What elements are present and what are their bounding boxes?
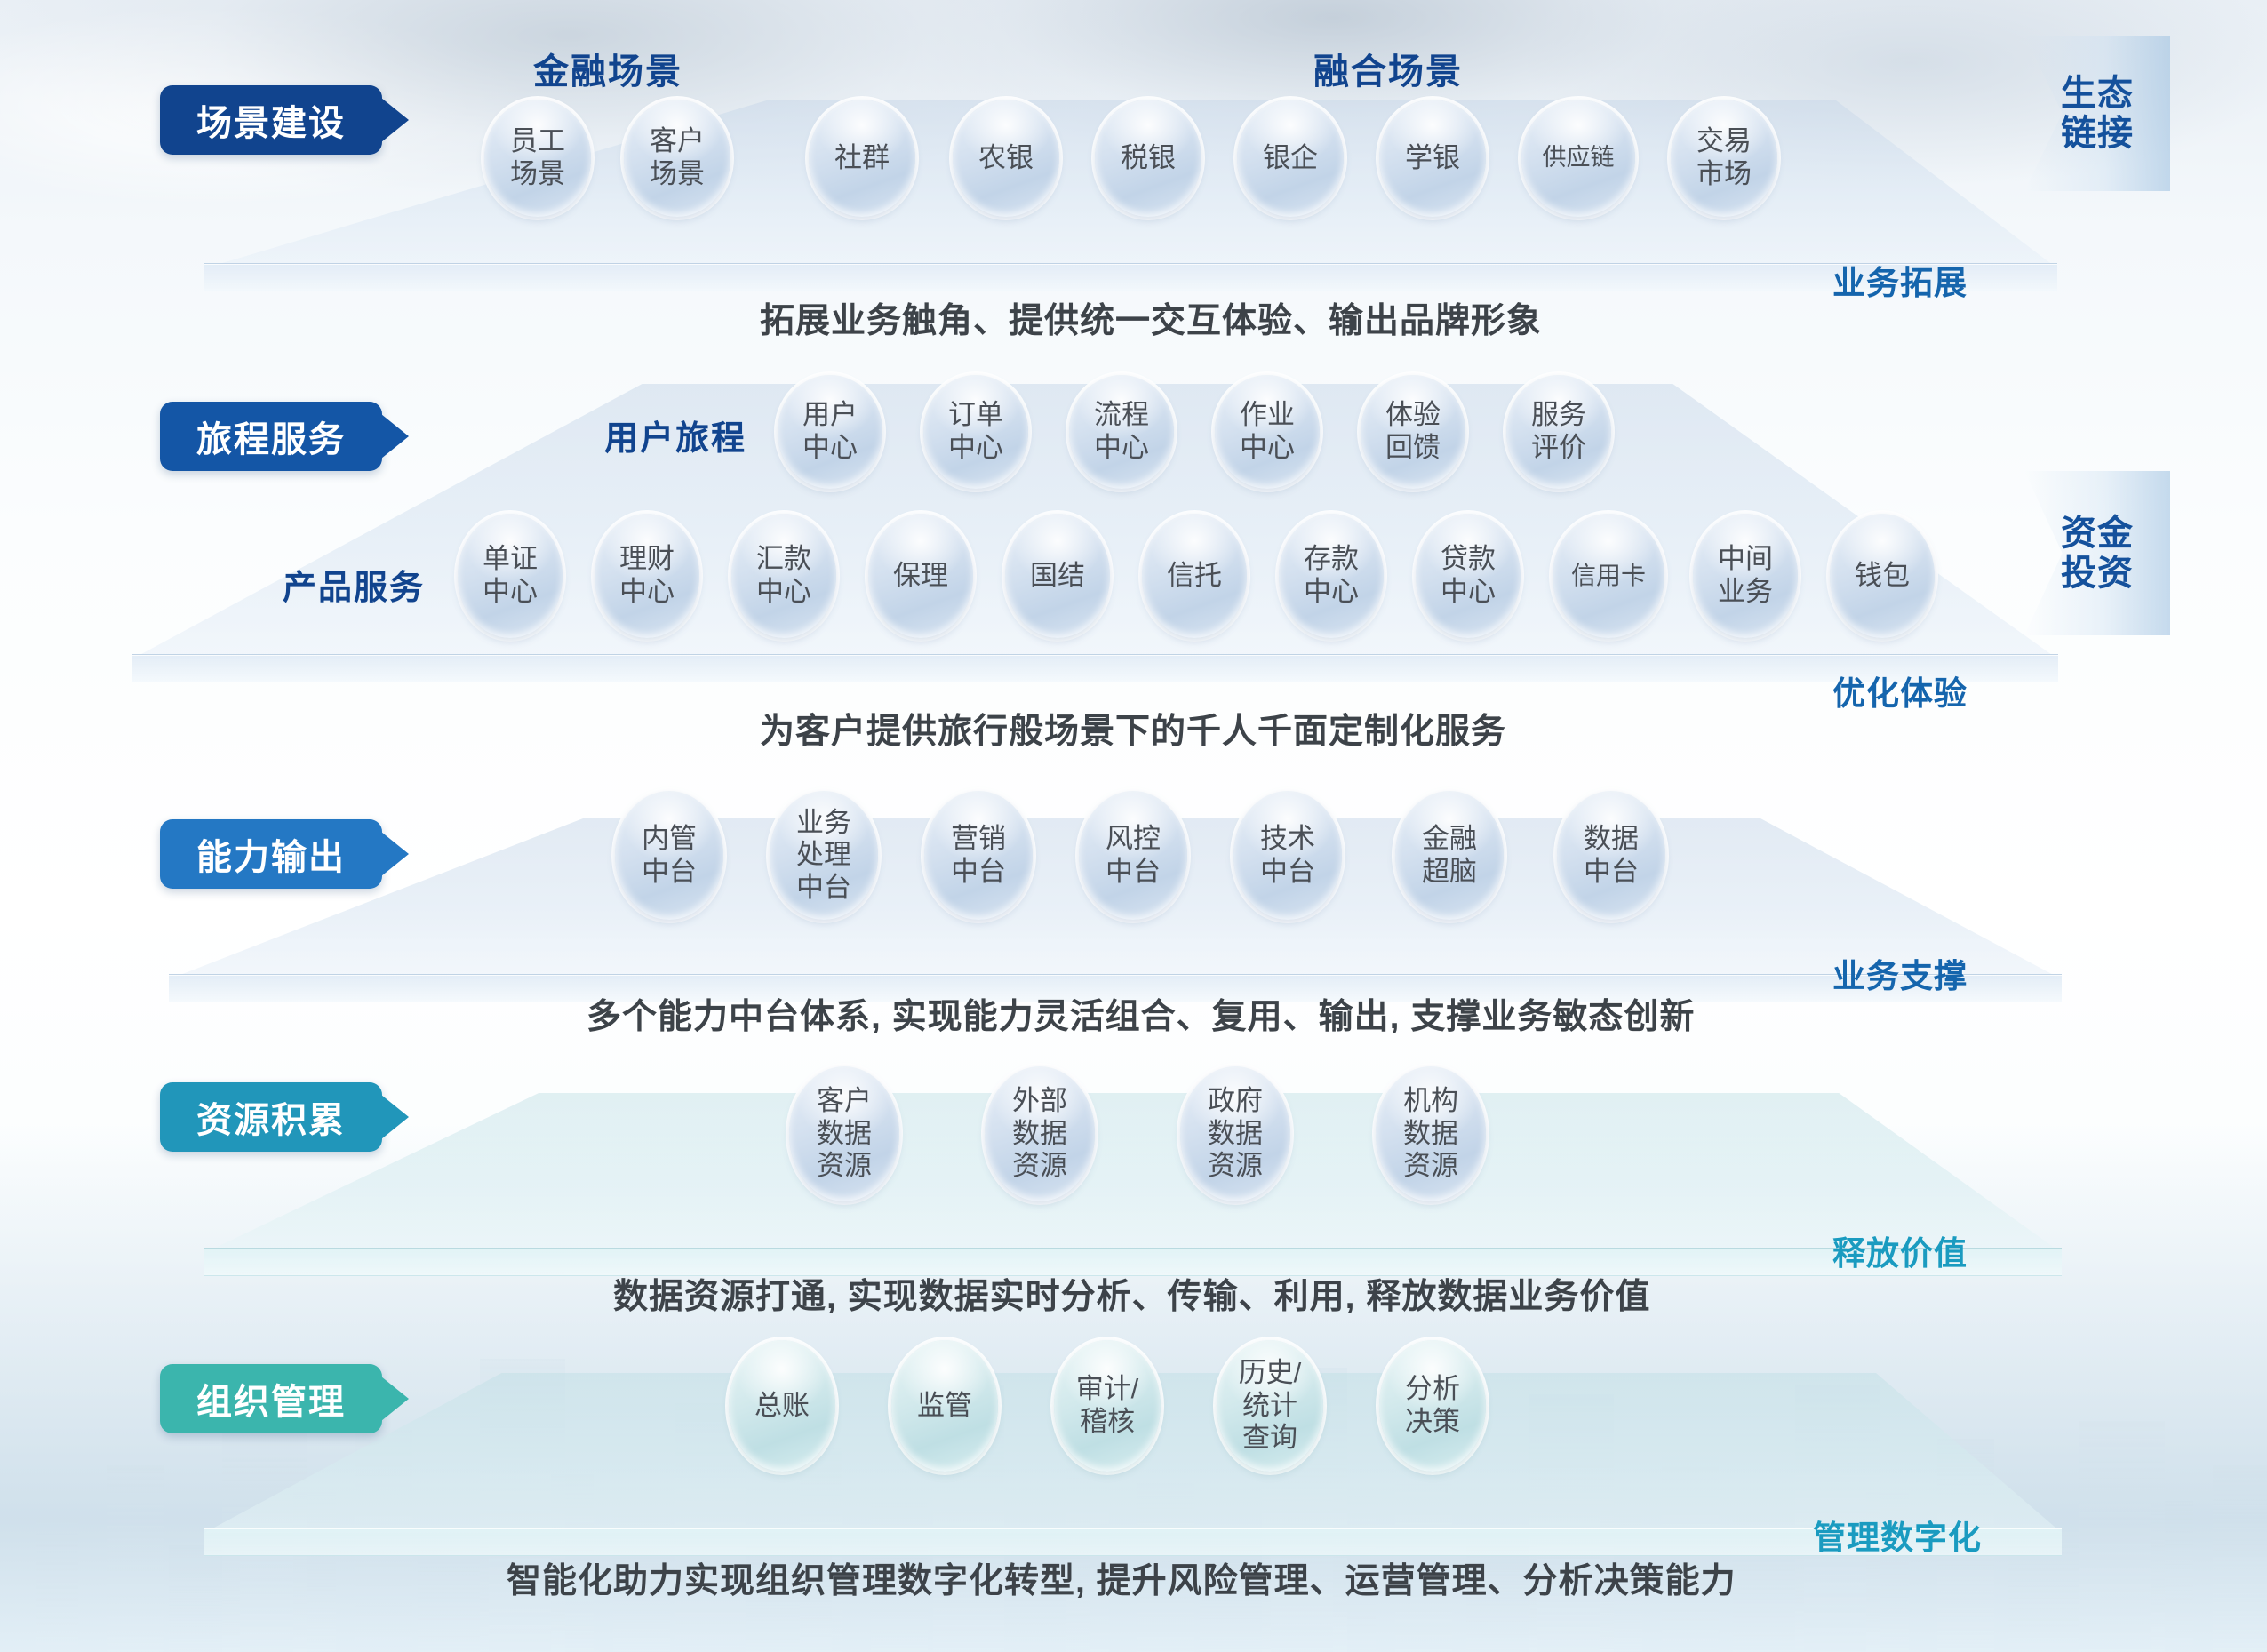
node-trading-market[interactable]: 交易 市场	[1671, 100, 1777, 217]
node-customer-data-resource[interactable]: 客户 数据 资源	[789, 1066, 899, 1201]
diagram-canvas: 场景建设 金融场景 融合场景 员工 场景 客户 场景 社群 农银 税银 银企 学…	[0, 0, 2267, 1652]
node-marketing-platform[interactable]: 营销 中台	[924, 791, 1033, 920]
layer-badge-journey-service[interactable]: 旅程服务	[160, 402, 382, 471]
node-loan-center[interactable]: 贷款 中心	[1416, 514, 1521, 638]
city-building	[36, 1519, 78, 1652]
node-user-center[interactable]: 用户 中心	[778, 375, 882, 489]
layer-badge-resource-accumulation[interactable]: 资源积累	[160, 1082, 382, 1152]
group-title-fusion-scene: 融合场景	[1313, 43, 1463, 94]
group-title-financial-scene: 金融场景	[533, 43, 682, 94]
right-label-optimize-experience: 优化体验	[1832, 666, 1968, 714]
node-business-processing-platform[interactable]: 业务 处理 中台	[770, 791, 878, 920]
city-building	[2213, 1465, 2267, 1652]
node-remittance-center[interactable]: 汇款 中心	[731, 514, 836, 638]
layer-badge-label: 组织管理	[196, 1373, 346, 1425]
node-operation-center[interactable]: 作业 中心	[1215, 375, 1320, 489]
node-internal-mgmt-platform[interactable]: 内管 中台	[615, 791, 723, 920]
layer-badge-capability-output[interactable]: 能力输出	[160, 819, 382, 889]
node-history-statistics-query[interactable]: 历史/ 统计 查询	[1217, 1340, 1323, 1472]
node-bank-enterprise[interactable]: 银企	[1237, 100, 1344, 217]
layer-badge-label: 旅程服务	[196, 411, 346, 462]
right-ribbon-capital-investment: 资金投资	[2044, 471, 2151, 635]
layer-badge-label: 资源积累	[196, 1091, 346, 1143]
layer-badge-organization-management[interactable]: 组织管理	[160, 1364, 382, 1433]
right-label-management-digitalization: 管理数字化	[1813, 1511, 1982, 1559]
caption-journey-service: 为客户提供旅行般场景下的千人千面定制化服务	[760, 704, 1506, 754]
node-document-center[interactable]: 单证 中心	[458, 514, 563, 638]
node-intl-settlement[interactable]: 国结	[1005, 514, 1110, 638]
node-process-center[interactable]: 流程 中心	[1069, 375, 1174, 489]
node-data-platform[interactable]: 数据 中台	[1557, 791, 1665, 920]
layer-badge-label: 场景建设	[196, 94, 346, 146]
node-employee-scene[interactable]: 员工 场景	[484, 100, 591, 217]
node-institution-data-resource[interactable]: 机构 数据 资源	[1376, 1066, 1486, 1201]
node-school-bank[interactable]: 学银	[1379, 100, 1486, 217]
city-building	[107, 1465, 164, 1652]
layer-badge-label: 能力输出	[196, 828, 346, 880]
caption-scene-construction: 拓展业务触角、提供统一交互体验、输出品牌形象	[760, 293, 1542, 343]
right-ribbon-ecosystem-link: 生态链接	[2044, 36, 2151, 191]
caption-organization-management: 智能化助力实现组织管理数字化转型, 提升风险管理、运营管理、分析决策能力	[507, 1553, 1736, 1603]
city-building	[2151, 1501, 2193, 1652]
node-supply-chain[interactable]: 供应链	[1521, 100, 1635, 217]
node-agri-bank[interactable]: 农银	[953, 100, 1059, 217]
layer-badge-scene-construction[interactable]: 场景建设	[160, 85, 382, 155]
node-tax-bank[interactable]: 税银	[1095, 100, 1201, 217]
node-risk-control-platform[interactable]: 风控 中台	[1079, 791, 1187, 920]
right-label-business-support: 业务支撑	[1832, 949, 1968, 997]
node-trust[interactable]: 信托	[1142, 514, 1247, 638]
right-label-business-expansion: 业务拓展	[1832, 256, 1968, 304]
node-deposit-center[interactable]: 存款 中心	[1279, 514, 1384, 638]
node-financial-brain[interactable]: 金融 超脑	[1395, 791, 1504, 920]
group-title-product-service: 产品服务	[283, 560, 425, 609]
node-audit-inspection[interactable]: 审计/ 稽核	[1054, 1340, 1161, 1472]
node-service-evaluation[interactable]: 服务 评价	[1506, 375, 1611, 489]
group-title-user-journey: 用户旅程	[604, 411, 746, 459]
node-community[interactable]: 社群	[809, 100, 915, 217]
node-wallet[interactable]: 钱包	[1830, 514, 1935, 638]
node-wealth-center[interactable]: 理财 中心	[595, 514, 699, 638]
node-general-ledger[interactable]: 总账	[729, 1340, 835, 1472]
right-ribbon-label: 生态链接	[2061, 74, 2134, 154]
node-order-center[interactable]: 订单 中心	[923, 375, 1028, 489]
node-experience-feedback[interactable]: 体验 回馈	[1361, 375, 1465, 489]
layer-platform-resource-accumulation	[204, 1093, 2062, 1253]
node-supervision[interactable]: 监管	[891, 1340, 998, 1472]
node-credit-card[interactable]: 信用卡	[1553, 514, 1664, 638]
node-customer-scene[interactable]: 客户 场景	[624, 100, 730, 217]
caption-capability-output: 多个能力中台体系, 实现能力灵活组合、复用、输出, 支撑业务敏态创新	[587, 989, 1695, 1039]
node-external-data-resource[interactable]: 外部 数据 资源	[985, 1066, 1095, 1201]
caption-resource-accumulation: 数据资源打通, 实现数据实时分析、传输、利用, 释放数据业务价值	[613, 1269, 1650, 1319]
node-analysis-decision[interactable]: 分析 决策	[1379, 1340, 1486, 1472]
right-label-release-value: 释放价值	[1832, 1226, 1968, 1274]
node-intermediary-business[interactable]: 中间 业务	[1693, 514, 1798, 638]
node-government-data-resource[interactable]: 政府 数据 资源	[1180, 1066, 1290, 1201]
node-factoring[interactable]: 保理	[868, 514, 973, 638]
node-technology-platform[interactable]: 技术 中台	[1233, 791, 1342, 920]
right-ribbon-label: 资金投资	[2061, 514, 2134, 594]
